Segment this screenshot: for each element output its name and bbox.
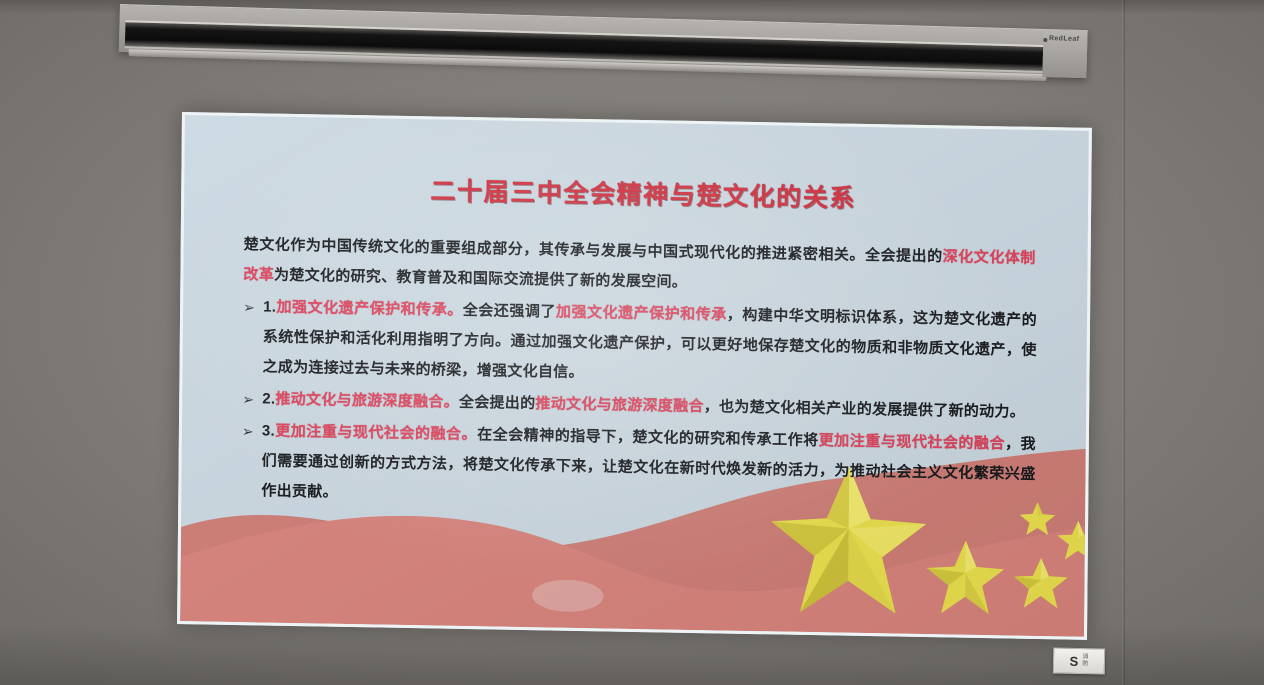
highlighted-phrase: 加强文化遗产保护和传承。 xyxy=(276,299,463,319)
bullet-text-3: 3.更加注重与现代社会的融合。在全会精神的指导下，楚文化的研究和传承工作将更加注… xyxy=(261,416,1040,520)
bullet-item-3: ➢ 3.更加注重与现代社会的融合。在全会精神的指导下，楚文化的研究和传承工作将更… xyxy=(241,416,1040,520)
text-run: 全会还强调了 xyxy=(463,302,556,321)
highlighted-phrase: 推动文化与旅游深度融合。 xyxy=(275,391,459,411)
slide-content: 二十届三中全会精神与楚文化的关系 楚文化作为中国传统文化的重要组成部分，其传承与… xyxy=(180,115,1089,637)
highlighted-phrase: 更加注重与现代社会的融合 xyxy=(819,432,1005,452)
text-run: 1. xyxy=(263,298,276,315)
text-run: 全会提出的 xyxy=(459,394,536,412)
wall-sign-sub-label: 消防 xyxy=(1082,654,1088,667)
wall-sign-glyph: S xyxy=(1070,654,1079,667)
screenshot-root: RedLeaf xyxy=(0,0,1264,685)
bullet-item-1: ➢ 1.加强文化遗产保护和传承。全会还强调了加强文化遗产保护和传承，构建中华文明… xyxy=(242,292,1041,396)
slide-surface: 二十届三中全会精神与楚文化的关系 楚文化作为中国传统文化的重要组成部分，其传承与… xyxy=(177,112,1092,640)
intro-paragraph: 楚文化作为中国传统文化的重要组成部分，其传承与发展与中国式现代化的推进紧密相关。… xyxy=(243,230,1041,304)
text-run: 2. xyxy=(262,390,275,407)
bullet-arrow-icon: ➢ xyxy=(242,384,262,414)
wall-seam-right xyxy=(1122,0,1125,685)
text-run: 楚文化作为中国传统文化的重要组成部分，其传承与发展与中国式现代化的推进紧密相关。… xyxy=(244,236,943,265)
slide-title: 二十届三中全会精神与楚文化的关系 xyxy=(244,168,1042,218)
projected-slide: 二十届三中全会精神与楚文化的关系 楚文化作为中国传统文化的重要组成部分，其传承与… xyxy=(177,112,1092,640)
wall-sign-plate: S 消防 xyxy=(1053,647,1106,674)
slide-body: 楚文化作为中国传统文化的重要组成部分，其传承与发展与中国式现代化的推进紧密相关。… xyxy=(241,230,1042,520)
bullet-arrow-icon: ➢ xyxy=(243,292,263,322)
text-run: ，也为楚文化相关产业的发展提供了新的动力。 xyxy=(704,398,1025,421)
bullet-arrow-icon: ➢ xyxy=(242,416,262,446)
highlighted-phrase: 推动文化与旅游深度融合 xyxy=(535,395,703,415)
text-run: 为楚文化的研究、教育普及和国际交流提供了新的发展空间。 xyxy=(274,267,687,291)
valance-brand-label: RedLeaf xyxy=(1049,35,1080,43)
text-run: 3. xyxy=(262,422,275,439)
highlighted-phrase: 加强文化遗产保护和传承 xyxy=(556,304,727,324)
highlighted-phrase: 更加注重与现代社会的融合。 xyxy=(275,423,477,444)
text-run: 在全会精神的指导下，楚文化的研究和传承工作将 xyxy=(477,426,819,449)
bullet-text-1: 1.加强文化遗产保护和传承。全会还强调了加强文化遗产保护和传承，构建中华文明标识… xyxy=(262,292,1041,396)
valance-brand-dot-icon xyxy=(1043,38,1047,42)
